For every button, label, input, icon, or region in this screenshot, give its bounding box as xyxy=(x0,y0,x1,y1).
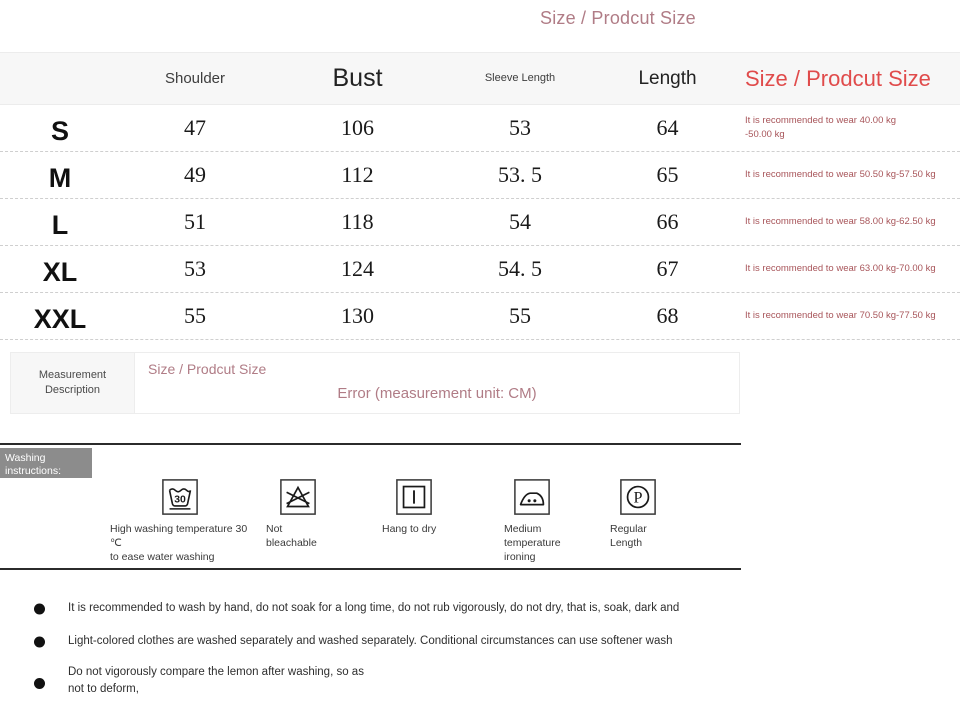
cell-recommendation: It is recommended to wear 40.00 kg -50.0… xyxy=(740,105,960,151)
table-row: XXL 55 130 55 68 It is recommended to we… xyxy=(0,293,960,340)
bullet-icon xyxy=(34,678,45,689)
table-row: S 47 106 53 64 It is recommended to wear… xyxy=(0,105,960,152)
cell-bust: 124 xyxy=(270,246,445,292)
cell-recommendation: It is recommended to wear 50.50 kg-57.50… xyxy=(740,152,960,198)
header-cell-bust: Bust xyxy=(270,53,445,104)
header-cell-recommendation: Size / Prodcut Size xyxy=(740,53,960,104)
header-label-shoulder: Shoulder xyxy=(165,70,225,87)
cell-bust: 112 xyxy=(270,152,445,198)
value-size: L xyxy=(52,212,69,241)
value-length: 65 xyxy=(657,162,679,188)
care-caption: Regular Length xyxy=(578,522,698,550)
value-recommendation: It is recommended to wear 63.00 kg-70.00… xyxy=(745,262,936,276)
list-item: It is recommended to wash by hand, do no… xyxy=(0,592,741,625)
care-caption: High washing temperature 30 ℃ to ease wa… xyxy=(100,522,260,565)
cell-sleeve-length: 53. 5 xyxy=(445,152,595,198)
measurement-description-panel: Measurement Description Size / Prodcut S… xyxy=(10,352,740,414)
bullet-icon xyxy=(34,603,45,614)
table-row: XL 53 124 54. 5 67 It is recommended to … xyxy=(0,246,960,293)
cell-length: 65 xyxy=(595,152,740,198)
cell-bust: 118 xyxy=(270,199,445,245)
svg-text:P: P xyxy=(634,490,643,507)
care-item-regular-length: P Regular Length xyxy=(578,478,698,550)
cell-bust: 106 xyxy=(270,105,445,151)
value-sleeve-length: 55 xyxy=(509,303,531,329)
divider-bottom xyxy=(0,568,741,570)
care-item-hang-to-dry: Hang to dry xyxy=(354,478,474,536)
value-recommendation: It is recommended to wear 58.00 kg-62.50… xyxy=(745,215,936,229)
measurement-description-body: Size / Prodcut Size Error (measurement u… xyxy=(135,353,739,413)
value-recommendation: It is recommended to wear 70.50 kg-77.50… xyxy=(745,309,936,323)
value-shoulder: 49 xyxy=(184,162,206,188)
cell-length: 67 xyxy=(595,246,740,292)
value-shoulder: 51 xyxy=(184,209,206,235)
washing-instructions-badge: Washing instructions: xyxy=(0,448,92,478)
header-cell-sleeve-length: Sleeve Length xyxy=(445,53,595,104)
top-size-label: Size / Prodcut Size xyxy=(540,8,696,29)
measurement-description-label: Measurement Description xyxy=(11,353,135,413)
value-bust: 124 xyxy=(341,256,374,282)
header-cell-length: Length xyxy=(595,53,740,104)
care-notes-list: It is recommended to wash by hand, do no… xyxy=(0,592,741,704)
table-row: L 51 118 54 66 It is recommended to wear… xyxy=(0,199,960,246)
cell-sleeve-length: 54. 5 xyxy=(445,246,595,292)
cell-recommendation: It is recommended to wear 63.00 kg-70.00… xyxy=(740,246,960,292)
header-label-length: Length xyxy=(638,68,696,90)
cell-shoulder: 55 xyxy=(120,293,270,339)
cell-recommendation: It is recommended to wear 70.50 kg-77.50… xyxy=(740,293,960,339)
header-cell-shoulder: Shoulder xyxy=(120,53,270,104)
header-label-bust: Bust xyxy=(332,64,382,93)
cell-size: XXL xyxy=(0,293,120,339)
value-length: 67 xyxy=(657,256,679,282)
header-cell-size xyxy=(0,53,120,104)
no-bleach-icon xyxy=(279,478,317,516)
cell-shoulder: 51 xyxy=(120,199,270,245)
value-size: XL xyxy=(43,259,78,288)
value-bust: 130 xyxy=(341,303,374,329)
care-item-no-bleach: Not bleachable xyxy=(238,478,358,550)
list-item: Do not vigorously compare the lemon afte… xyxy=(0,658,741,704)
care-item-iron-medium: Medium temperature ironing xyxy=(472,478,592,565)
care-symbols-row: 30 High washing temperature 30 ℃ to ease… xyxy=(0,478,741,563)
bullet-icon xyxy=(34,636,45,647)
cell-length: 68 xyxy=(595,293,740,339)
value-shoulder: 55 xyxy=(184,303,206,329)
cell-recommendation: It is recommended to wear 58.00 kg-62.50… xyxy=(740,199,960,245)
value-sleeve-length: 54 xyxy=(509,209,531,235)
cell-size: S xyxy=(0,105,120,151)
hang-to-dry-icon xyxy=(395,478,433,516)
header-label-sleeve-length: Sleeve Length xyxy=(485,72,555,86)
header-label-recommendation: Size / Prodcut Size xyxy=(745,66,931,92)
value-length: 64 xyxy=(657,115,679,141)
cell-sleeve-length: 53 xyxy=(445,105,595,151)
value-sleeve-length: 53 xyxy=(509,115,531,141)
care-caption: Hang to dry xyxy=(354,522,474,536)
value-sleeve-length: 54. 5 xyxy=(498,256,542,282)
list-item: Light-colored clothes are washed separat… xyxy=(0,625,741,658)
table-header-row: Shoulder Bust Sleeve Length Length Size … xyxy=(0,52,960,105)
care-caption: Medium temperature ironing xyxy=(472,522,592,565)
value-size: M xyxy=(49,165,72,194)
wash-30-icon: 30 xyxy=(161,478,199,516)
value-length: 66 xyxy=(657,209,679,235)
cell-size: XL xyxy=(0,246,120,292)
divider-top xyxy=(0,443,741,445)
regular-length-icon: P xyxy=(619,478,657,516)
value-shoulder: 47 xyxy=(184,115,206,141)
cell-length: 66 xyxy=(595,199,740,245)
cell-shoulder: 53 xyxy=(120,246,270,292)
measurement-error-note: Error (measurement unit: CM) xyxy=(135,385,739,402)
cell-size: L xyxy=(0,199,120,245)
value-bust: 106 xyxy=(341,115,374,141)
value-size: S xyxy=(51,118,69,147)
cell-shoulder: 49 xyxy=(120,152,270,198)
value-recommendation: It is recommended to wear 40.00 kg -50.0… xyxy=(745,114,896,142)
value-length: 68 xyxy=(657,303,679,329)
care-item-wash-30: 30 High washing temperature 30 ℃ to ease… xyxy=(100,478,260,565)
note-text: Do not vigorously compare the lemon afte… xyxy=(68,664,364,697)
value-sleeve-length: 53. 5 xyxy=(498,162,542,188)
size-chart-table: Shoulder Bust Sleeve Length Length Size … xyxy=(0,52,960,340)
cell-sleeve-length: 54 xyxy=(445,199,595,245)
note-text: Light-colored clothes are washed separat… xyxy=(68,633,673,650)
cell-shoulder: 47 xyxy=(120,105,270,151)
measurement-sub-label: Size / Prodcut Size xyxy=(148,361,266,377)
cell-bust: 130 xyxy=(270,293,445,339)
cell-size: M xyxy=(0,152,120,198)
table-row: M 49 112 53. 5 65 It is recommended to w… xyxy=(0,152,960,199)
value-bust: 112 xyxy=(341,162,373,188)
value-size: XXL xyxy=(34,306,87,335)
svg-text:30: 30 xyxy=(174,495,186,506)
value-bust: 118 xyxy=(341,209,373,235)
value-recommendation: It is recommended to wear 50.50 kg-57.50… xyxy=(745,168,936,182)
value-shoulder: 53 xyxy=(184,256,206,282)
iron-medium-icon xyxy=(513,478,551,516)
cell-length: 64 xyxy=(595,105,740,151)
note-text: It is recommended to wash by hand, do no… xyxy=(68,600,679,617)
care-caption: Not bleachable xyxy=(238,522,358,550)
cell-sleeve-length: 55 xyxy=(445,293,595,339)
